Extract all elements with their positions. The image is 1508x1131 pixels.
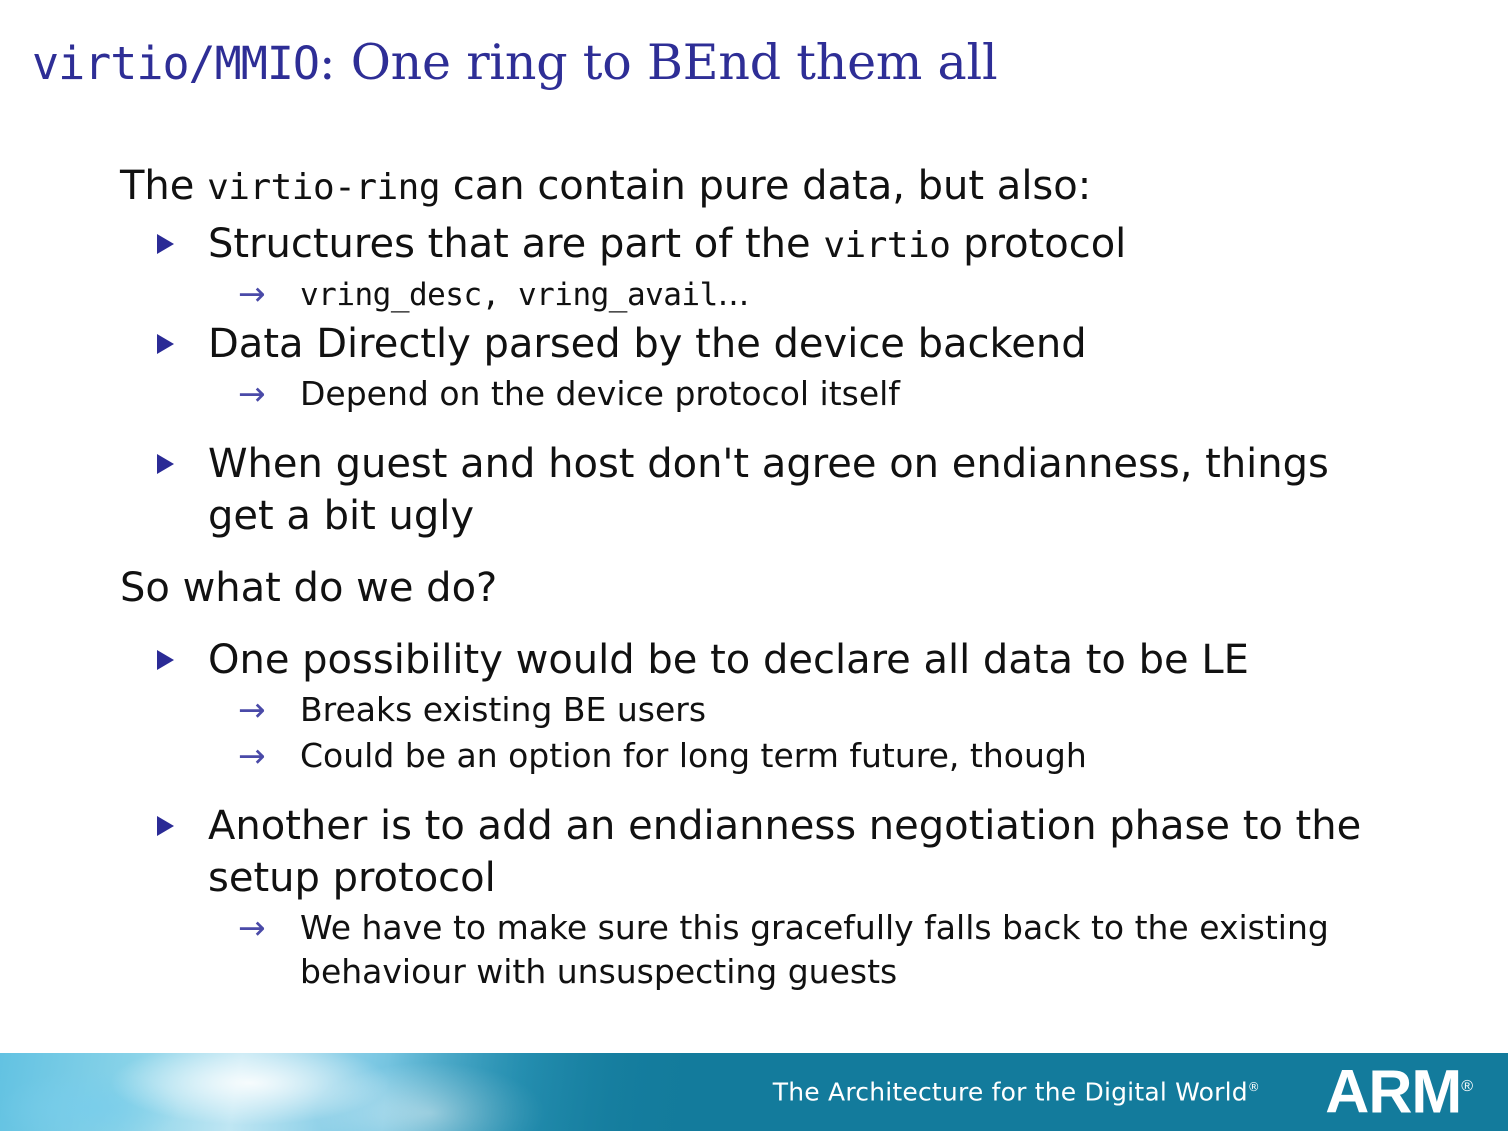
slide-footer: The Architecture for the Digital World® … <box>0 1053 1508 1131</box>
subitem-breaks-be-users-label: Breaks existing BE users <box>300 690 706 729</box>
footer-cloud-graphic <box>0 1053 700 1131</box>
intro-mono: virtio-ring <box>207 167 440 208</box>
question-line-label: So what do we do? <box>120 565 497 611</box>
bullet-data-directly-parsed-label: Data Directly parsed by the device backe… <box>208 321 1087 367</box>
triangle-bullet-icon <box>157 650 174 670</box>
subitem-graceful-fallback: → We have to make sure this gracefully f… <box>0 906 1508 994</box>
triangle-bullet-icon <box>157 816 174 836</box>
subitem-depend-device-protocol: → Depend on the device protocol itself <box>0 372 1508 416</box>
subitem-long-term-option-label: Could be an option for long term future,… <box>300 736 1087 775</box>
subitem-graceful-fallback-label: We have to make sure this gracefully fal… <box>300 908 1329 991</box>
footer-tagline-text: The Architecture for the Digital World <box>773 1078 1248 1107</box>
intro-line: The virtio-ring can contain pure data, b… <box>0 160 1508 212</box>
subitem-vring-structs-post: ... <box>718 274 749 313</box>
bullet-endianness-negotiation: Another is to add an endianness negotiat… <box>0 800 1508 904</box>
registered-mark-icon: ® <box>1248 1080 1260 1094</box>
subitem-long-term-option: → Could be an option for long term futur… <box>0 734 1508 778</box>
page-title-rest: : One ring to BEnd them all <box>319 34 997 91</box>
page-title-mono: virtio/MMIO <box>32 37 319 90</box>
arrow-icon: → <box>238 734 266 778</box>
intro-post: can contain pure data, but also: <box>440 163 1091 209</box>
arm-logo-text: ARM <box>1325 1058 1461 1126</box>
bullet-declare-all-le: One possibility would be to declare all … <box>0 634 1508 686</box>
subitem-depend-device-protocol-label: Depend on the device protocol itself <box>300 374 900 413</box>
arrow-icon: → <box>238 688 266 732</box>
bullet-endianness-mismatch-label: When guest and host don't agree on endia… <box>208 441 1329 539</box>
triangle-bullet-icon <box>157 334 174 354</box>
page-title: virtio/MMIO: One ring to BEnd them all <box>32 34 998 91</box>
bullet-endianness-mismatch: When guest and host don't agree on endia… <box>0 438 1508 542</box>
bullet-data-directly-parsed: Data Directly parsed by the device backe… <box>0 318 1508 370</box>
bullet-declare-all-le-label: One possibility would be to declare all … <box>208 637 1249 683</box>
bullet-structures: Structures that are part of the virtio p… <box>0 218 1508 270</box>
question-line: So what do we do? <box>0 562 1508 614</box>
triangle-bullet-icon <box>157 234 174 254</box>
triangle-bullet-icon <box>157 454 174 474</box>
footer-tagline: The Architecture for the Digital World® <box>773 1078 1260 1107</box>
arrow-icon: → <box>238 272 266 316</box>
bullet-structures-post: protocol <box>950 221 1126 267</box>
subitem-vring-structs: → vring_desc, vring_avail... <box>0 272 1508 316</box>
bullet-structures-pre: Structures that are part of the <box>208 221 823 267</box>
subitem-breaks-be-users: → Breaks existing BE users <box>0 688 1508 732</box>
bullet-endianness-negotiation-label: Another is to add an endianness negotiat… <box>208 803 1361 901</box>
arrow-icon: → <box>238 372 266 416</box>
arrow-icon: → <box>238 906 266 950</box>
arm-logo: ARM® <box>1325 1062 1472 1123</box>
bullet-structures-mono: virtio <box>823 225 950 266</box>
slide-content: The virtio-ring can contain pure data, b… <box>0 160 1508 996</box>
intro-pre: The <box>120 163 207 209</box>
registered-mark-icon: ® <box>1461 1078 1472 1095</box>
subitem-vring-structs-mono: vring_desc, vring_avail <box>300 277 718 313</box>
